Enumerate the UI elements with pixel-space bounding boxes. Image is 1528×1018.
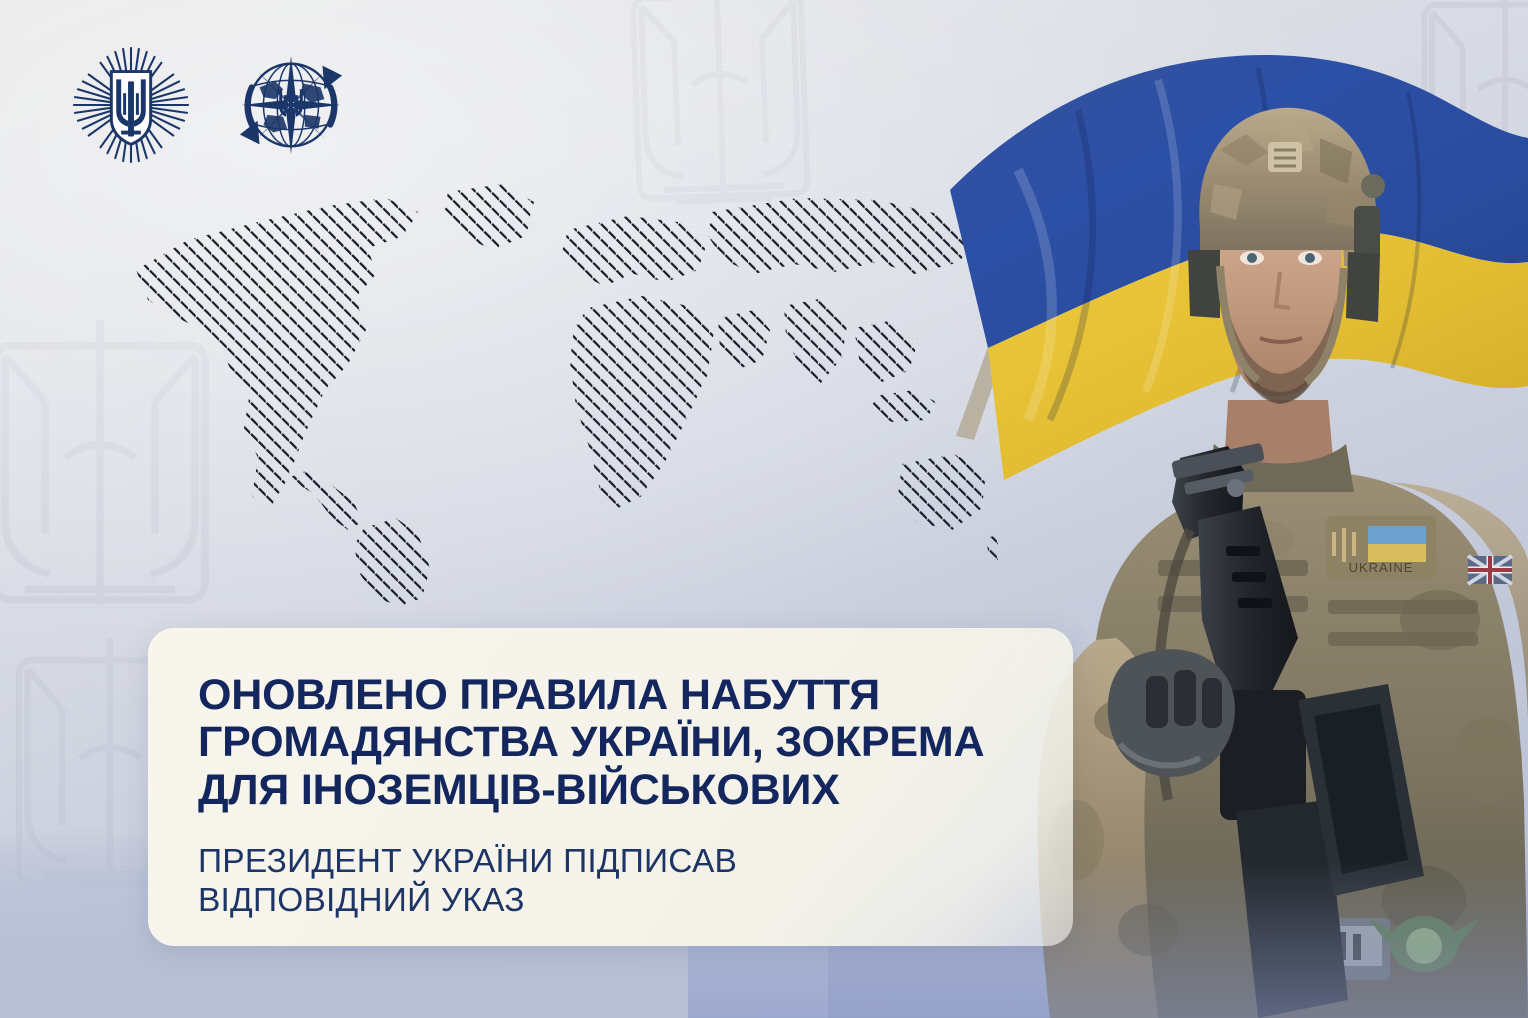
state-migration-service-emblem [232, 46, 350, 164]
ministry-of-internal-affairs-emblem [72, 46, 190, 164]
title-line-2: ГРОМАДЯНСТВА УКРАЇНИ, ЗОКРЕМА [198, 719, 1023, 766]
emblem-group [72, 46, 350, 164]
mia-star-trident-icon [74, 48, 188, 162]
subtitle-line-2: ВІДПОВІДНИЙ УКАЗ [198, 881, 1023, 920]
ukraine-flag-patch: UKRAINE [1326, 516, 1436, 578]
page-subtitle: ПРЕЗИДЕНТ УКРАЇНИ ПІДПИСАВ ВІДПОВІДНИЙ У… [198, 842, 1023, 920]
page-title: ОНОВЛЕНО ПРАВИЛА НАБУТТЯ ГРОМАДЯНСТВА УК… [198, 672, 1023, 814]
tactical-glove [1108, 649, 1235, 777]
subtitle-line-1: ПРЕЗИДЕНТ УКРАЇНИ ПІДПИСАВ [198, 842, 1023, 881]
title-line-1: ОНОВЛЕНО ПРАВИЛА НАБУТТЯ [198, 672, 1023, 719]
title-line-3: ДЛЯ ІНОЗЕМЦІВ-ВІЙСЬКОВИХ [198, 767, 1023, 814]
migration-globe-trident-icon [240, 56, 342, 154]
headline-card: ОНОВЛЕНО ПРАВИЛА НАБУТТЯ ГРОМАДЯНСТВА УК… [148, 628, 1073, 946]
uk-flag-patch [1468, 556, 1512, 584]
infographic-canvas: UKRAINE [0, 0, 1528, 1018]
svg-text:UKRAINE: UKRAINE [1349, 560, 1414, 575]
